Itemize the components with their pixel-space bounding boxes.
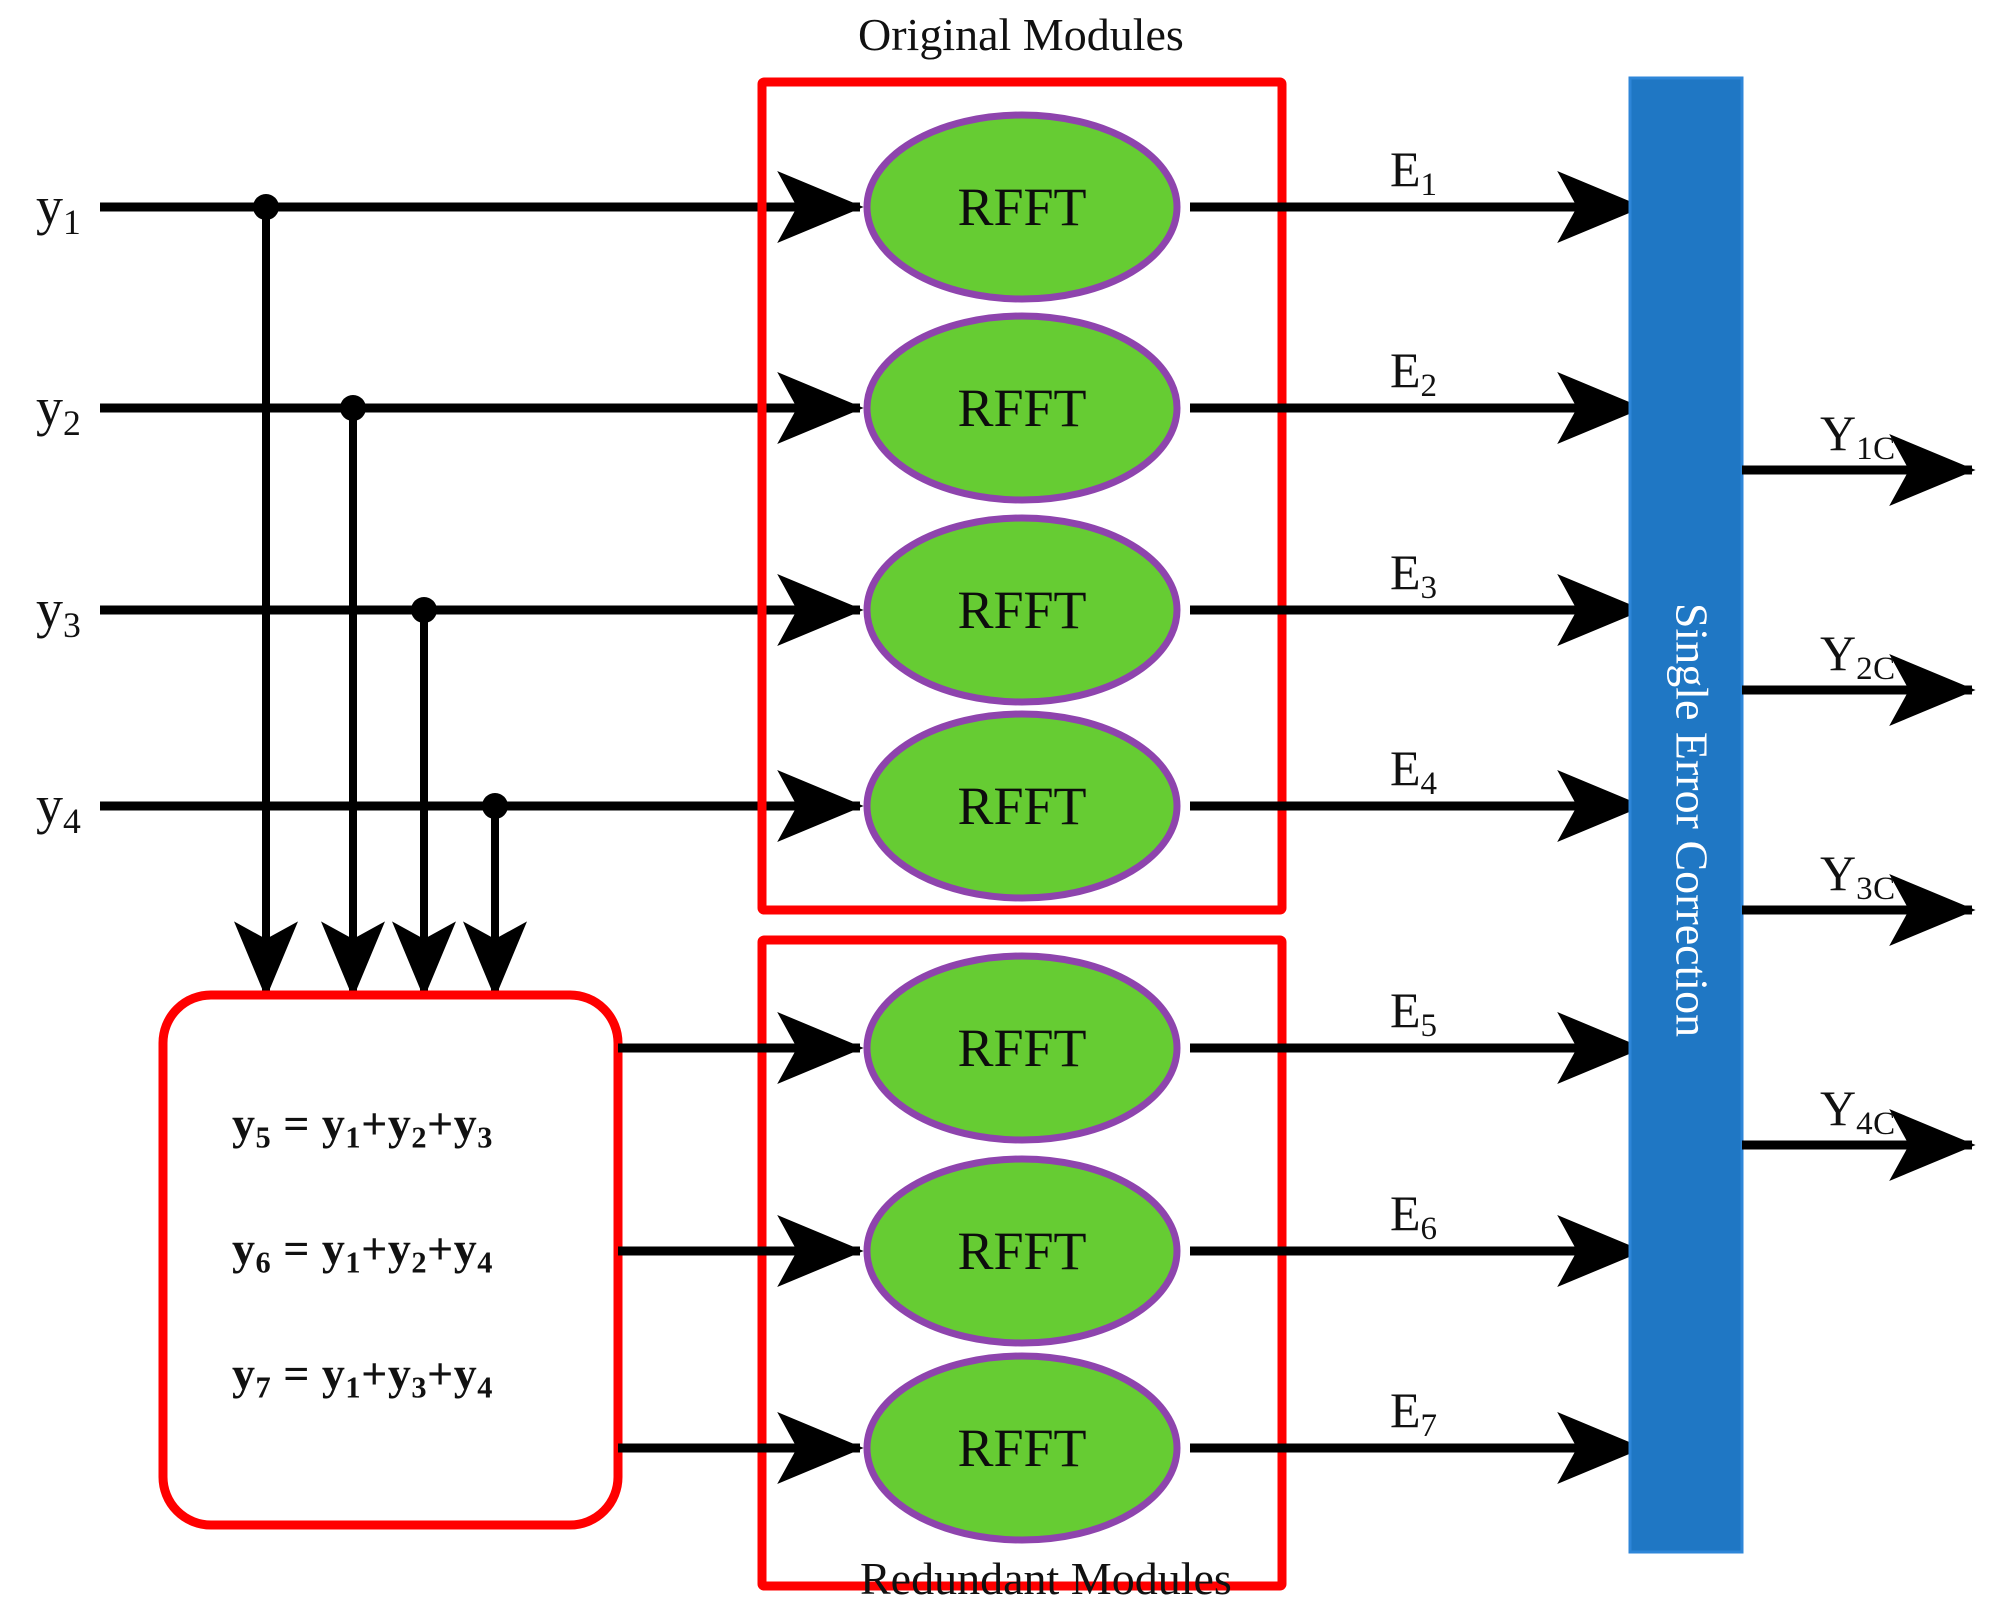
original-modules-title: Original Modules: [858, 8, 1184, 61]
output-sub: 7: [1421, 1408, 1438, 1444]
input-label-y1: y1: [36, 175, 81, 243]
redundant-module-group: RFFT RFFT RFFT: [867, 956, 1177, 1540]
eq-term-base: y: [454, 1098, 478, 1149]
eq-term-sub: 2: [411, 1121, 427, 1155]
input-sub: 3: [63, 605, 81, 645]
single-error-correction-label: Single Error Correction: [1667, 603, 1718, 1037]
input-sub: 2: [63, 403, 81, 443]
output-sub: 4: [1421, 766, 1438, 802]
output-base: Y: [1820, 1080, 1856, 1136]
eq-lhs-base: y: [232, 1348, 256, 1399]
eq-plus: +: [427, 1223, 454, 1274]
output-base: E: [1390, 1382, 1421, 1438]
rfft-label: RFFT: [957, 177, 1086, 237]
rfft-label: RFFT: [957, 776, 1086, 836]
eq-term-base: y: [454, 1348, 478, 1399]
eq-term-sub: 1: [345, 1121, 361, 1155]
eq-term-base: y: [454, 1223, 478, 1274]
corrected-output-label-y3c: Y3C: [1820, 844, 1896, 908]
output-sub: 2C: [1856, 651, 1896, 687]
eq-term-sub: 1: [345, 1371, 361, 1405]
eq-equals: =: [271, 1348, 322, 1399]
output-base: Y: [1820, 405, 1856, 461]
module-output-label-e1: E1: [1390, 140, 1438, 204]
output-base: E: [1390, 1185, 1421, 1241]
eq-equals: =: [271, 1098, 322, 1149]
rfft-module[interactable]: RFFT: [867, 115, 1177, 299]
output-sub: 1: [1421, 167, 1438, 203]
output-base: Y: [1820, 625, 1856, 681]
eq-term-sub: 2: [411, 1246, 427, 1280]
rfft-label: RFFT: [957, 378, 1086, 438]
eq-lhs-base: y: [232, 1223, 256, 1274]
output-base: E: [1390, 544, 1421, 600]
junction-dots: [253, 194, 508, 819]
output-sub: 4C: [1856, 1106, 1896, 1142]
module-output-label-e7: E7: [1390, 1381, 1438, 1445]
rfft-label: RFFT: [957, 1418, 1086, 1478]
corrected-output-label-y2c: Y2C: [1820, 624, 1896, 688]
output-sub: 3C: [1856, 871, 1896, 907]
corrected-output-label-y1c: Y1C: [1820, 404, 1896, 468]
diagram-canvas: RFFT RFFT RFFT RFFT RFFT RFFT: [0, 0, 1990, 1617]
input-base: y: [36, 775, 63, 835]
eq-term-base: y: [388, 1348, 412, 1399]
eq-plus: +: [361, 1223, 388, 1274]
input-label-y4: y4: [36, 774, 81, 842]
corrected-output-label-y4c: Y4C: [1820, 1079, 1896, 1143]
output-sub: 2: [1421, 368, 1438, 404]
eq-lhs-sub: 7: [256, 1371, 272, 1405]
rfft-module[interactable]: RFFT: [867, 316, 1177, 500]
output-base: E: [1390, 740, 1421, 796]
eq-lhs-sub: 5: [256, 1121, 272, 1155]
eq-plus: +: [361, 1348, 388, 1399]
original-module-group: RFFT RFFT RFFT RFFT: [867, 115, 1177, 898]
output-sub: 3: [1421, 570, 1438, 606]
input-horizontal-wires: [100, 207, 860, 806]
eq-equals: =: [271, 1223, 322, 1274]
equation-y6: y6 = y1+y2+y4: [232, 1222, 493, 1281]
corrected-output-wires: [1742, 470, 1972, 1145]
eq-term-sub: 4: [477, 1371, 493, 1405]
module-output-label-e3: E3: [1390, 543, 1438, 607]
rfft-label: RFFT: [957, 1221, 1086, 1281]
eq-term-base: y: [322, 1223, 346, 1274]
rfft-module[interactable]: RFFT: [867, 1159, 1177, 1343]
rfft-module[interactable]: RFFT: [867, 518, 1177, 702]
eq-lhs-sub: 6: [256, 1246, 272, 1280]
input-base: y: [36, 176, 63, 236]
input-sub: 4: [63, 801, 81, 841]
output-sub: 5: [1421, 1008, 1438, 1044]
output-sub: 6: [1421, 1211, 1438, 1247]
eq-term-sub: 3: [477, 1121, 493, 1155]
output-base: E: [1390, 982, 1421, 1038]
output-base: E: [1390, 141, 1421, 197]
output-sub: 1C: [1856, 431, 1896, 467]
eq-term-base: y: [388, 1098, 412, 1149]
module-output-label-e6: E6: [1390, 1184, 1438, 1248]
input-branch-wires: [266, 207, 495, 995]
input-sub: 1: [63, 202, 81, 242]
eq-lhs-base: y: [232, 1098, 256, 1149]
rfft-label: RFFT: [957, 1018, 1086, 1078]
parity-output-wires: [618, 1048, 860, 1448]
eq-term-sub: 1: [345, 1246, 361, 1280]
equation-y7: y7 = y1+y3+y4: [232, 1347, 493, 1406]
output-base: E: [1390, 342, 1421, 398]
rfft-module[interactable]: RFFT: [867, 956, 1177, 1140]
output-base: Y: [1820, 845, 1856, 901]
input-base: y: [36, 579, 63, 639]
eq-plus: +: [427, 1348, 454, 1399]
eq-plus: +: [427, 1098, 454, 1149]
module-output-label-e2: E2: [1390, 341, 1438, 405]
input-label-y3: y3: [36, 578, 81, 646]
eq-term-sub: 4: [477, 1246, 493, 1280]
eq-term-base: y: [322, 1098, 346, 1149]
eq-term-base: y: [388, 1223, 412, 1274]
eq-term-sub: 3: [411, 1371, 427, 1405]
input-base: y: [36, 377, 63, 437]
module-output-label-e5: E5: [1390, 981, 1438, 1045]
rfft-module[interactable]: RFFT: [867, 1356, 1177, 1540]
redundant-modules-title: Redundant Modules: [860, 1552, 1232, 1605]
eq-term-base: y: [322, 1348, 346, 1399]
module-output-label-e4: E4: [1390, 739, 1438, 803]
equation-y5: y5 = y1+y2+y3: [232, 1097, 493, 1156]
input-label-y2: y2: [36, 376, 81, 444]
eq-plus: +: [361, 1098, 388, 1149]
rfft-label: RFFT: [957, 580, 1086, 640]
rfft-module[interactable]: RFFT: [867, 714, 1177, 898]
